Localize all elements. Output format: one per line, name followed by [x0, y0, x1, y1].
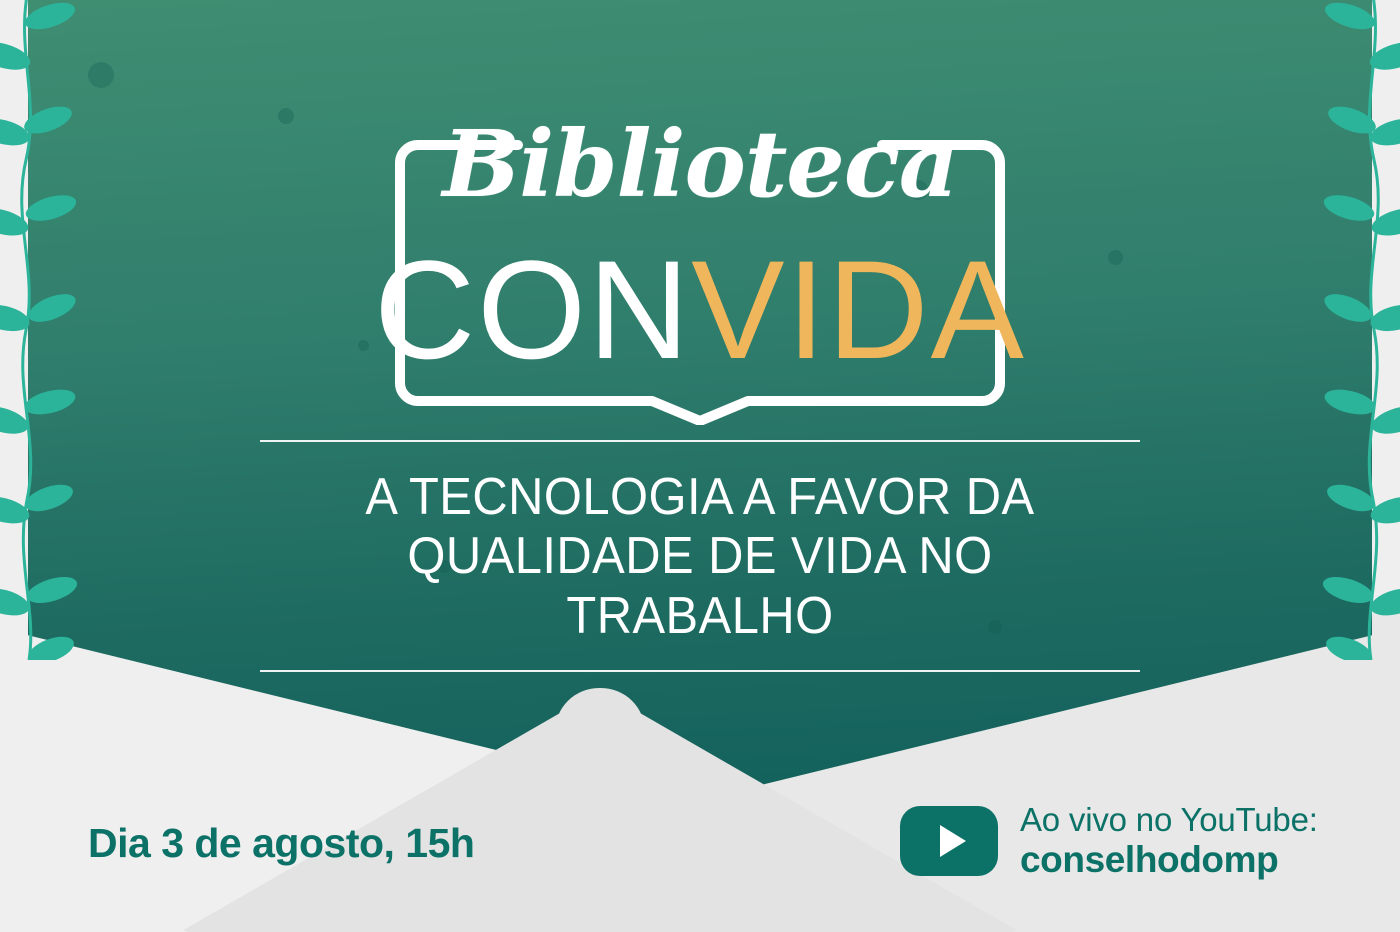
- headline-block: A TECNOLOGIA A FAVOR DA QUALIDADE DE VID…: [260, 440, 1140, 672]
- youtube-text-group: Ao vivo no YouTube: conselhodomp: [1020, 802, 1318, 880]
- event-date-text: Dia 3 de agosto, 15h: [88, 823, 474, 864]
- brand-main-word: CONVIDA: [350, 240, 1050, 380]
- headline-text: A TECNOLOGIA A FAVOR DA QUALIDADE DE VID…: [286, 442, 1113, 670]
- youtube-label: Ao vivo no YouTube:: [1020, 802, 1318, 839]
- youtube-live-info[interactable]: Ao vivo no YouTube: conselhodomp: [900, 802, 1318, 880]
- brand-main-word-vida: VIDA: [691, 231, 1026, 388]
- youtube-channel-name: conselhodomp: [1020, 839, 1318, 880]
- brand-main-word-con: CON: [374, 231, 691, 388]
- headline-rule-bottom: [260, 670, 1140, 672]
- brand-script-word: Biblioteca: [390, 118, 1010, 210]
- youtube-play-icon[interactable]: [900, 806, 998, 876]
- play-triangle-icon: [940, 825, 966, 857]
- headline-line-2: QUALIDADE DE VIDA NO TRABALHO: [286, 527, 1113, 646]
- headline-line-1: A TECNOLOGIA A FAVOR DA: [286, 468, 1113, 527]
- logo-lockup: Biblioteca CONVIDA: [0, 60, 1400, 390]
- event-banner: Biblioteca CONVIDA A TECNOLOGIA A FAVOR …: [0, 0, 1400, 932]
